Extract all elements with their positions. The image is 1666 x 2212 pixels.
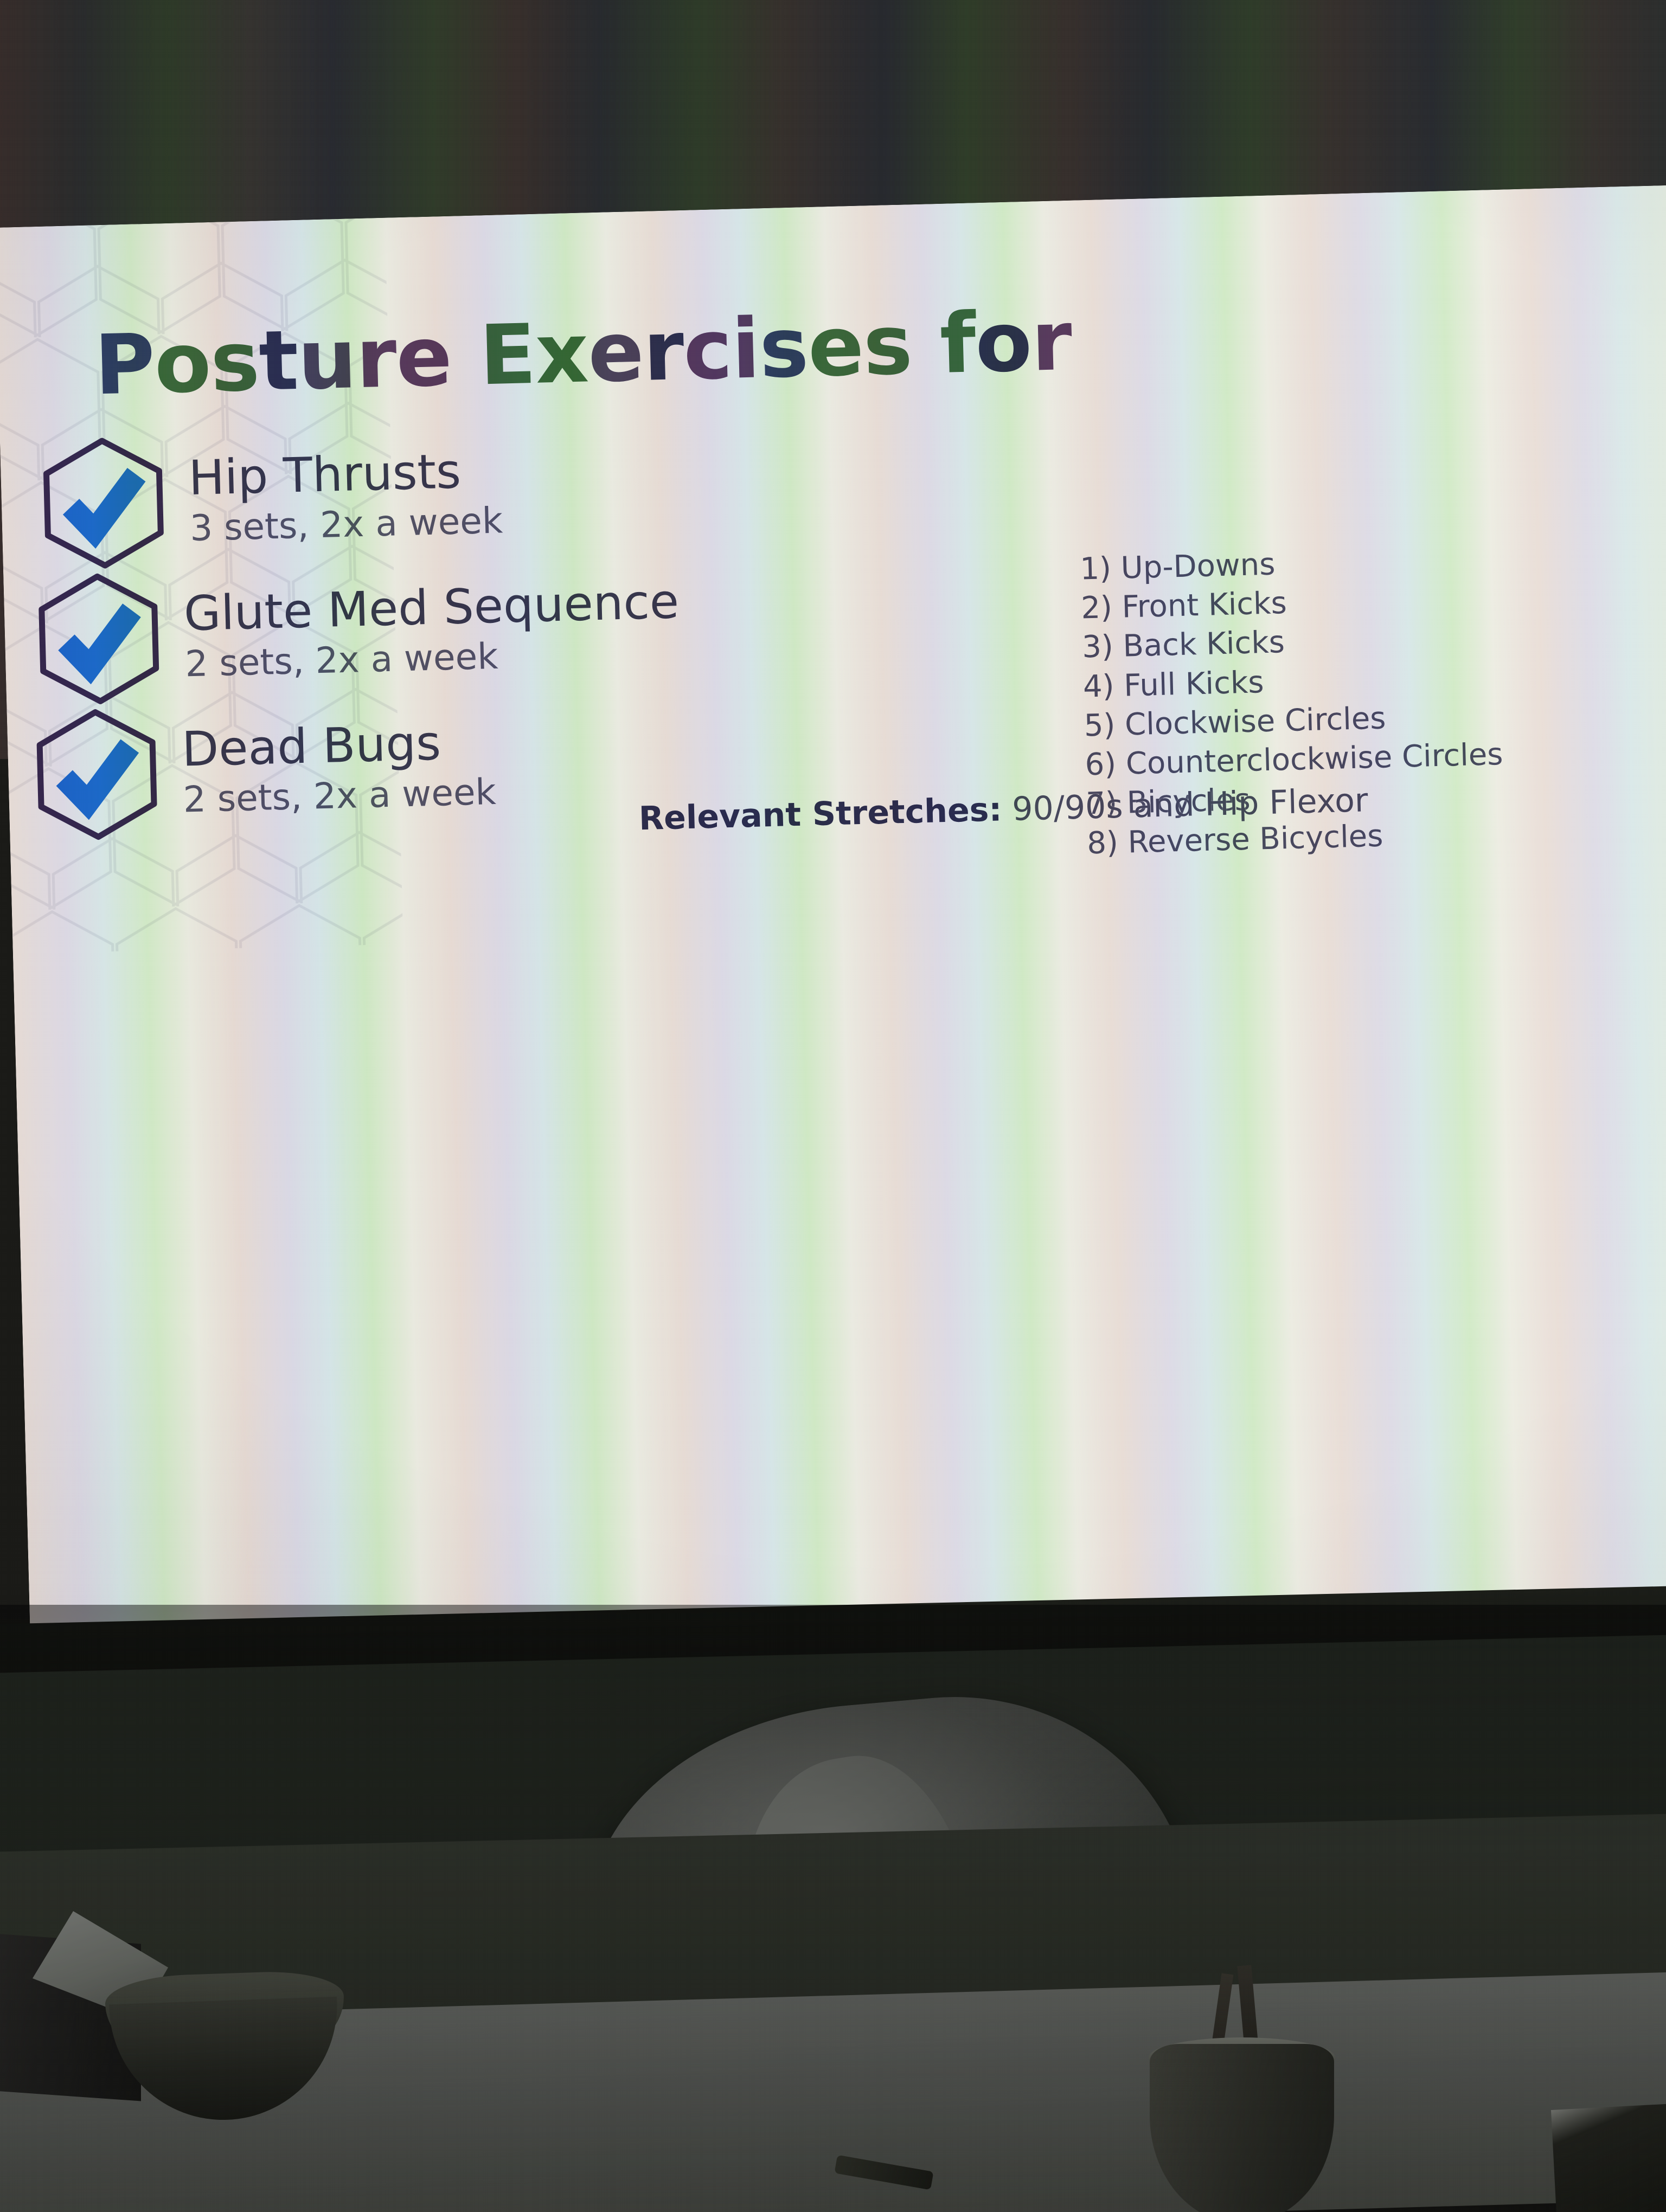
exercise-sets: 2 sets, 2x a week: [183, 772, 497, 820]
exercise-name: Glute Med Sequence: [183, 577, 680, 639]
tissue-sheet: [33, 1911, 168, 2020]
projection-screen: Posture Exercises for Hip Thrusts 3 set: [0, 185, 1666, 1658]
room-dim-overlay: [0, 1605, 1666, 2212]
check-hexagon-icon: [33, 570, 164, 707]
slide-title: Posture Exercises for: [93, 293, 1073, 414]
exercise-name: Dead Bugs: [181, 717, 495, 774]
exercise-row-hip-thrusts: Hip Thrusts 3 sets, 2x a week: [38, 427, 504, 572]
utensil: [1237, 1965, 1260, 2074]
check-hexagon-icon: [38, 435, 169, 571]
check-hexagon-icon: [31, 706, 163, 843]
relevant-stretches-label: Relevant Stretches:: [638, 790, 1002, 838]
couch-seat: [0, 1812, 1666, 2189]
photo-scene: Posture Exercises for Hip Thrusts 3 set: [0, 0, 1666, 2212]
couch-backrest: [0, 1634, 1666, 1923]
pen: [834, 2155, 933, 2190]
mug: [1150, 2044, 1334, 2212]
table-object-right: [1551, 2102, 1666, 2212]
pillow-highlight: [723, 1741, 1001, 2108]
bowl-lower: [109, 1997, 341, 2124]
table-top: [0, 1970, 1666, 2212]
pillow: [573, 1677, 1212, 2183]
tissue-box: [0, 1933, 141, 2101]
exercise-name: Hip Thrusts: [188, 446, 502, 503]
mug-rim: [1149, 2037, 1335, 2078]
presentation-slide: Posture Exercises for Hip Thrusts 3 set: [0, 185, 1666, 1658]
exercise-sets: 3 sets, 2x a week: [189, 500, 503, 548]
exercise-row-glute-med-sequence: Glute Med Sequence 2 sets, 2x a week: [33, 557, 681, 707]
bowl-upper: [104, 1969, 345, 2064]
exercise-row-dead-bugs: Dead Bugs 2 sets, 2x a week: [31, 698, 497, 843]
utensil: [1208, 1973, 1234, 2071]
